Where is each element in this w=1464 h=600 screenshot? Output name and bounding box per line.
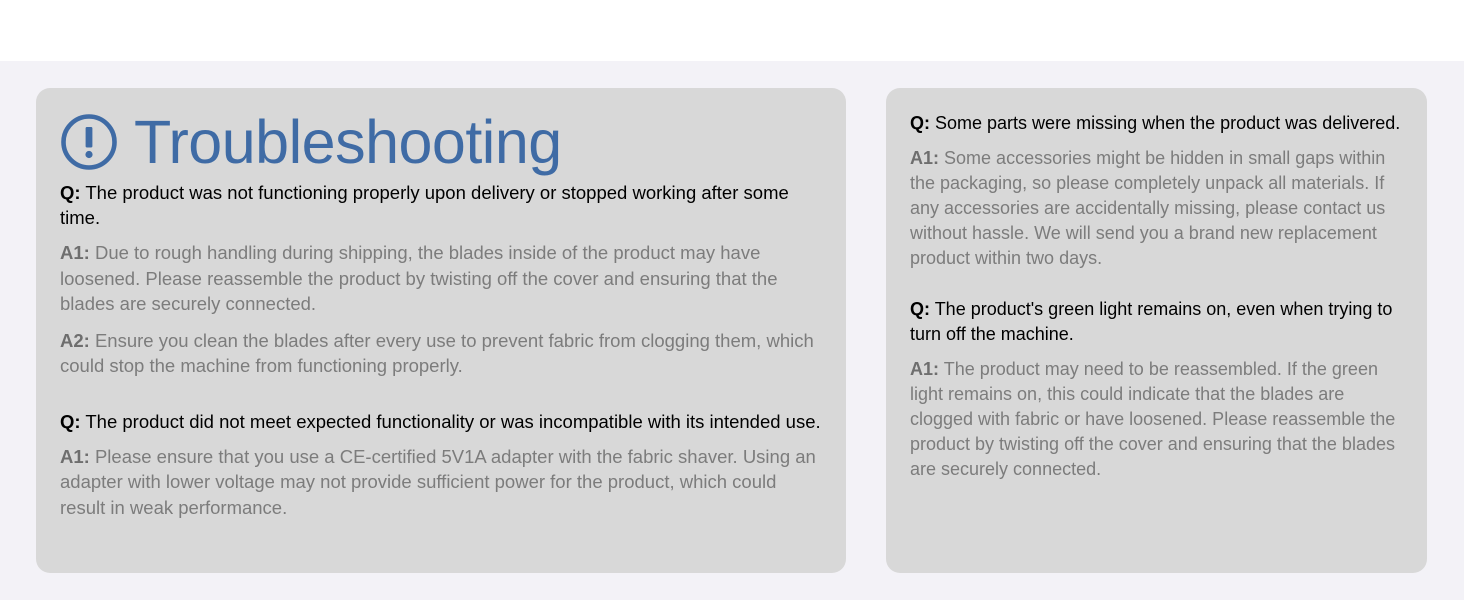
answer-line: A2: Ensure you clean the blades after ev… [60, 328, 822, 379]
question-text: The product's green light remains on, ev… [910, 299, 1392, 344]
answer-tag: A1: [910, 359, 939, 379]
question-text: The product was not functioning properly… [60, 182, 789, 228]
answer-text: Some accessories might be hidden in smal… [910, 148, 1385, 268]
answer-text: Ensure you clean the blades after every … [60, 330, 814, 377]
page-title: Troubleshooting [134, 110, 562, 174]
answer-line: A1: Please ensure that you use a CE-cert… [60, 444, 822, 521]
question-line: Q: The product's green light remains on,… [910, 297, 1403, 347]
page-root: Troubleshooting Q: The product was not f… [0, 0, 1464, 600]
question-tag: Q: [910, 299, 930, 319]
qa-block: Q: The product did not meet expected fun… [60, 409, 822, 521]
answer-line: A1: The product may need to be reassembl… [910, 357, 1403, 482]
qa-block: Q: The product's green light remains on,… [910, 297, 1403, 482]
qa-block: Q: The product was not functioning prope… [60, 180, 822, 379]
answer-text: The product may need to be reassembled. … [910, 359, 1395, 479]
answer-tag: A2: [60, 330, 90, 351]
question-text: The product did not meet expected functi… [85, 411, 820, 432]
question-line: Q: Some parts were missing when the prod… [910, 111, 1403, 136]
question-line: Q: The product did not meet expected fun… [60, 409, 822, 434]
qa-block: Q: Some parts were missing when the prod… [910, 111, 1403, 271]
troubleshooting-card-left: Troubleshooting Q: The product was not f… [36, 88, 846, 573]
answer-line: A1: Due to rough handling during shippin… [60, 240, 822, 317]
answer-line: A1: Some accessories might be hidden in … [910, 146, 1403, 271]
troubleshooting-header: Troubleshooting [60, 110, 822, 174]
question-text: Some parts were missing when the product… [935, 113, 1400, 133]
answer-tag: A1: [910, 148, 939, 168]
question-line: Q: The product was not functioning prope… [60, 180, 822, 230]
answer-tag: A1: [60, 242, 90, 263]
question-tag: Q: [60, 182, 81, 203]
troubleshooting-card-right: Q: Some parts were missing when the prod… [886, 88, 1427, 573]
question-tag: Q: [60, 411, 81, 432]
answer-tag: A1: [60, 446, 90, 467]
question-tag: Q: [910, 113, 930, 133]
answer-text: Please ensure that you use a CE-certifie… [60, 446, 816, 518]
answer-text: Due to rough handling during shipping, t… [60, 242, 778, 314]
exclamation-circle-icon [60, 113, 118, 171]
